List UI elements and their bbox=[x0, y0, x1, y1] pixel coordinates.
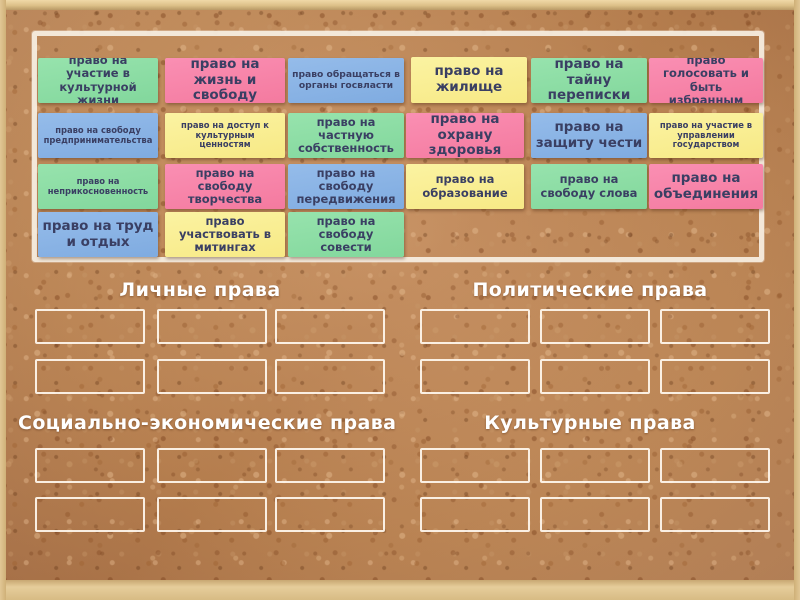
drop-zone-slot[interactable] bbox=[275, 309, 385, 344]
drop-zone-slot[interactable] bbox=[35, 448, 145, 483]
card-label: право на объединения bbox=[653, 171, 759, 202]
card-label: право на участие в культурной жизни bbox=[42, 58, 154, 103]
card-label: право участвовать в митингах bbox=[169, 215, 281, 255]
draggable-card[interactable]: право на объединения bbox=[649, 164, 763, 209]
card-label: право обращаться в органы госвласти bbox=[292, 70, 400, 91]
category-title: Культурные права bbox=[420, 412, 760, 434]
drop-zone-slot[interactable] bbox=[157, 497, 267, 532]
drop-zone-slot[interactable] bbox=[540, 309, 650, 344]
draggable-card[interactable]: право на труд и отдых bbox=[38, 212, 158, 257]
drop-zone-slot[interactable] bbox=[275, 497, 385, 532]
drop-zone-slot[interactable] bbox=[660, 448, 770, 483]
activity-board: право на участие в культурной жизниправо… bbox=[0, 0, 800, 600]
drop-zone-slot[interactable] bbox=[157, 309, 267, 344]
category-title: Социально-экономические права bbox=[18, 412, 388, 434]
draggable-card[interactable]: право участвовать в митингах bbox=[165, 212, 285, 257]
card-label: право на защиту чести bbox=[535, 120, 643, 151]
card-label: право на свободу творчества bbox=[169, 167, 281, 207]
draggable-card[interactable]: право на свободу совести bbox=[288, 212, 404, 257]
card-label: право на жилище bbox=[415, 64, 523, 95]
draggable-card[interactable]: право на жилище bbox=[411, 57, 527, 103]
drop-zone-slot[interactable] bbox=[660, 359, 770, 394]
draggable-card[interactable]: право обращаться в органы госвласти bbox=[288, 58, 404, 103]
drop-zone-slot[interactable] bbox=[540, 448, 650, 483]
card-label: право на свободу слова bbox=[535, 173, 643, 200]
draggable-card[interactable]: право голосовать и быть избранным bbox=[649, 58, 763, 103]
draggable-card[interactable]: право на тайну переписки bbox=[531, 58, 647, 103]
drop-zone-slot[interactable] bbox=[540, 359, 650, 394]
draggable-card[interactable]: право на защиту чести bbox=[531, 113, 647, 158]
card-label: право на доступ к культурным ценностям bbox=[169, 121, 281, 150]
draggable-card[interactable]: право на неприкосновенность bbox=[38, 164, 158, 209]
draggable-card[interactable]: право на частную собственность bbox=[288, 113, 404, 158]
draggable-card[interactable]: право на доступ к культурным ценностям bbox=[165, 113, 285, 158]
card-label: право голосовать и быть избранным bbox=[653, 58, 759, 103]
draggable-card[interactable]: право на участие в культурной жизни bbox=[38, 58, 158, 103]
card-label: право на неприкосновенность bbox=[42, 177, 154, 197]
drop-zone-slot[interactable] bbox=[157, 448, 267, 483]
drop-zone-slot[interactable] bbox=[35, 497, 145, 532]
draggable-card[interactable]: право на жизнь и свободу bbox=[165, 58, 285, 103]
drop-zone-slot[interactable] bbox=[420, 497, 530, 532]
drop-zone-slot[interactable] bbox=[275, 359, 385, 394]
category-title: Политические права bbox=[420, 279, 760, 301]
draggable-card[interactable]: право на свободу слова bbox=[531, 164, 647, 209]
card-label: право на свободу предпринимательства bbox=[42, 126, 154, 146]
drop-zone-slot[interactable] bbox=[35, 309, 145, 344]
drop-zone-slot[interactable] bbox=[660, 309, 770, 344]
card-label: право на труд и отдых bbox=[42, 219, 154, 250]
drop-zone-slot[interactable] bbox=[420, 448, 530, 483]
draggable-card[interactable]: право на свободу предпринимательства bbox=[38, 113, 158, 158]
draggable-card[interactable]: право на образование bbox=[406, 164, 524, 209]
card-label: право на охрану здоровья bbox=[410, 113, 520, 158]
drop-zone-slot[interactable] bbox=[275, 448, 385, 483]
card-label: право на свободу совести bbox=[292, 215, 400, 255]
frame-edge-bottom bbox=[0, 580, 800, 600]
card-label: право на частную собственность bbox=[292, 116, 400, 156]
frame-edge-top bbox=[0, 0, 800, 10]
drop-zone-slot[interactable] bbox=[660, 497, 770, 532]
card-label: право на свободу передвижения bbox=[292, 167, 400, 207]
draggable-card[interactable]: право на охрану здоровья bbox=[406, 113, 524, 158]
card-label: право на тайну переписки bbox=[535, 58, 643, 103]
card-label: право на участие в управлении государств… bbox=[653, 121, 759, 150]
drop-zone-slot[interactable] bbox=[540, 497, 650, 532]
drop-zone-slot[interactable] bbox=[157, 359, 267, 394]
category-title: Личные права bbox=[30, 279, 370, 301]
draggable-card[interactable]: право на свободу творчества bbox=[165, 164, 285, 209]
drop-zone-slot[interactable] bbox=[420, 359, 530, 394]
card-label: право на образование bbox=[410, 173, 520, 200]
draggable-card[interactable]: право на свободу передвижения bbox=[288, 164, 404, 209]
card-label: право на жизнь и свободу bbox=[169, 58, 281, 103]
drop-zone-slot[interactable] bbox=[35, 359, 145, 394]
drop-zone-slot[interactable] bbox=[420, 309, 530, 344]
draggable-card[interactable]: право на участие в управлении государств… bbox=[649, 113, 763, 158]
